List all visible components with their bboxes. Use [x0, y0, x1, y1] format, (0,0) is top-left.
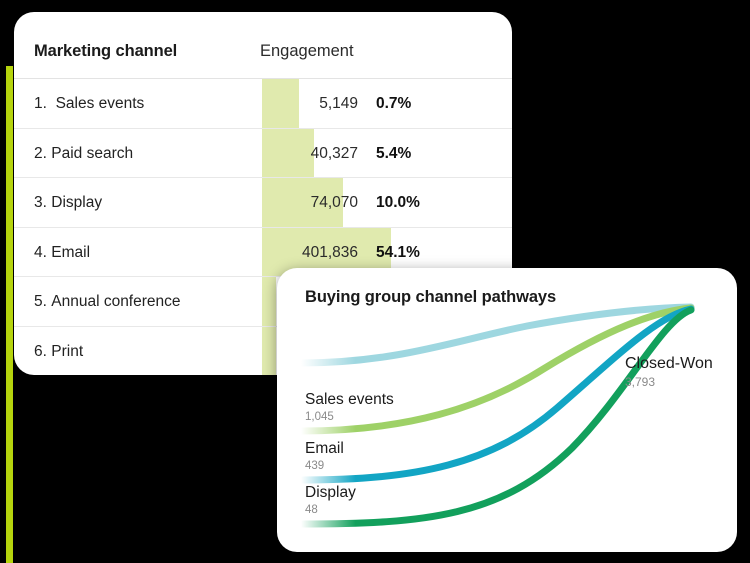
buying-group-pathways-card: Buying group channel pathways — [277, 268, 737, 552]
row-index: 1. — [34, 79, 47, 129]
row-engagement-percent: 5.4% — [376, 129, 411, 179]
end-node-closed-won: Closed-Won 3,793 — [625, 354, 713, 390]
row-channel-label: 6. Print — [34, 327, 83, 376]
end-node-value: 3,793 — [625, 375, 713, 390]
series-name: Sales events — [305, 391, 394, 409]
table-row[interactable]: 3. Display74,07010.0% — [14, 177, 512, 227]
row-channel-label: 4. Email — [34, 228, 90, 278]
row-engagement-percent: 0.7% — [376, 79, 411, 129]
series-value: 1,045 — [305, 410, 394, 425]
row-channel-name: Display — [51, 178, 102, 228]
row-channel-name: Print — [51, 327, 83, 376]
row-channel-name: Email — [51, 228, 90, 278]
series-value: 439 — [305, 459, 344, 474]
series-label-sales-events: Sales events 1,045 — [305, 391, 394, 425]
table-row[interactable]: 2. Paid search40,3275.4% — [14, 128, 512, 178]
row-channel-label: 2. Paid search — [34, 129, 133, 179]
row-channel-label: 1. Sales events — [34, 79, 144, 129]
row-engagement-value: 74,070 — [282, 178, 358, 228]
row-channel-label: 5. Annual conference — [34, 277, 181, 327]
engagement-bar — [262, 277, 276, 326]
row-channel-name: Sales events — [56, 79, 145, 129]
series-label-display: Display 48 — [305, 484, 356, 518]
row-index: 6. — [34, 327, 47, 376]
card-accent-stripe — [6, 66, 13, 563]
row-channel-name: Annual conference — [51, 277, 180, 327]
series-name: Email — [305, 440, 344, 458]
column-header-marketing-channel: Marketing channel — [34, 42, 177, 61]
series-value: 48 — [305, 503, 356, 518]
row-channel-name: Paid search — [51, 129, 133, 179]
table-row[interactable]: 1. Sales events5,1490.7% — [14, 78, 512, 128]
row-index: 4. — [34, 228, 47, 278]
end-node-name: Closed-Won — [625, 354, 713, 373]
series-label-email: Email 439 — [305, 440, 344, 474]
series-name: Display — [305, 484, 356, 502]
row-index: 2. — [34, 129, 47, 179]
row-index: 3. — [34, 178, 47, 228]
row-engagement-percent: 10.0% — [376, 178, 420, 228]
row-channel-label: 3. Display — [34, 178, 102, 228]
engagement-bar — [262, 327, 276, 376]
row-engagement-value: 5,149 — [282, 79, 358, 129]
row-engagement-value: 40,327 — [282, 129, 358, 179]
row-index: 5. — [34, 277, 47, 327]
column-header-engagement: Engagement — [260, 42, 354, 61]
table-header: Marketing channel Engagement — [14, 12, 512, 78]
